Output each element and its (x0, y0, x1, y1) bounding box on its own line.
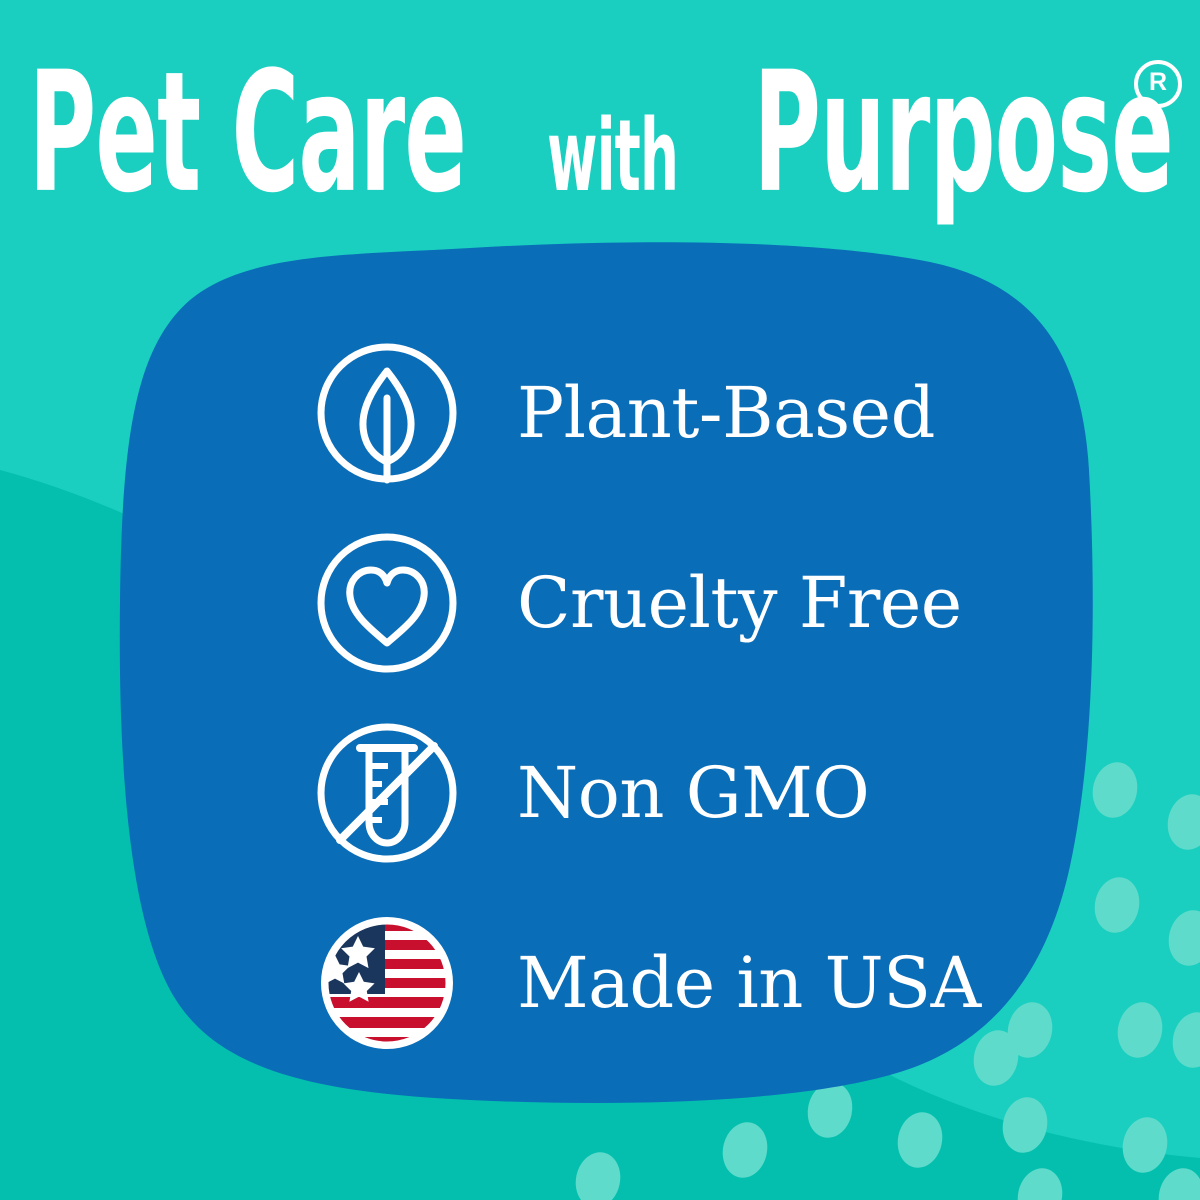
heart-in-circle-icon (312, 528, 462, 678)
headline-part-2: with (539, 113, 683, 208)
usa-flag-circle-icon (312, 908, 462, 1058)
promo-graphic: Pet Care with Purpose R Plant-Based (0, 0, 1200, 1200)
feature-label-cruelty-free: Cruelty Free (517, 568, 962, 638)
feature-label-plant-based: Plant-Based (517, 378, 935, 448)
no-test-tube-icon (312, 718, 462, 868)
feature-item-non-gmo[interactable]: Non GMO (312, 698, 1012, 888)
headline: Pet Care with Purpose (0, 18, 1200, 208)
headline-part-3: Purpose (754, 62, 1174, 208)
feature-list: Plant-Based Cruelty Free (312, 318, 1012, 1078)
feature-label-made-in-usa: Made in USA (517, 948, 981, 1018)
leaf-in-circle-icon (312, 338, 462, 488)
registered-trademark-icon: R (1134, 60, 1182, 108)
feature-item-cruelty-free[interactable]: Cruelty Free (312, 508, 1012, 698)
feature-label-non-gmo: Non GMO (517, 758, 869, 828)
headline-part-1: Pet Care (29, 62, 466, 208)
feature-item-made-in-usa[interactable]: Made in USA (312, 888, 1012, 1078)
feature-item-plant-based[interactable]: Plant-Based (312, 318, 1012, 508)
